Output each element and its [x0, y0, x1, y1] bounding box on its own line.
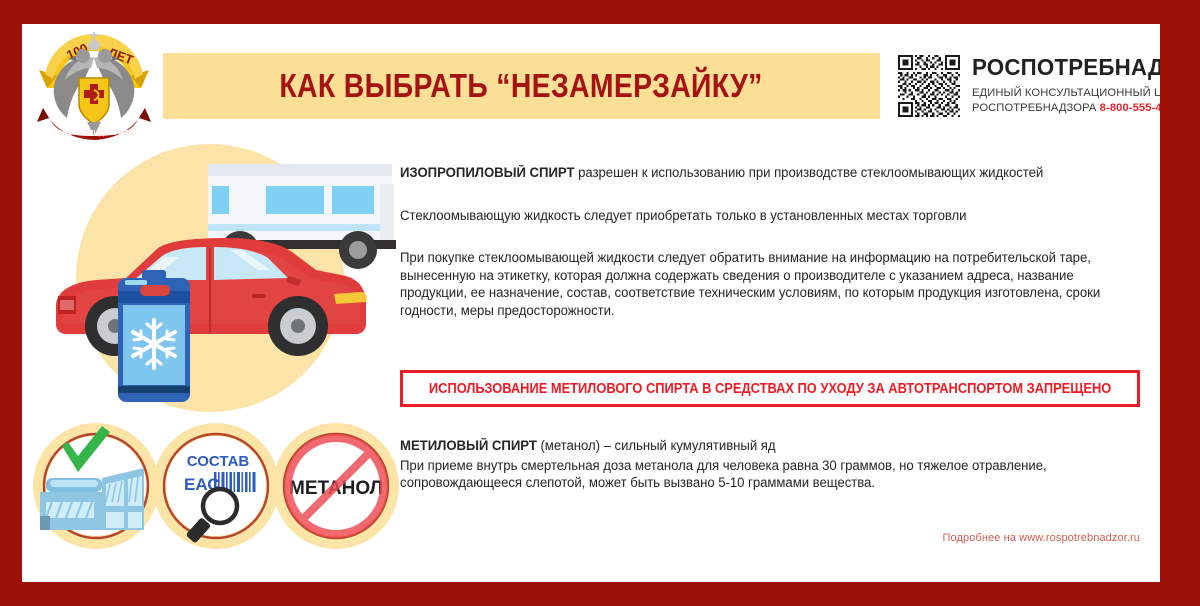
title-banner: КАК ВЫБРАТЬ “НЕЗАМЕРЗАЙКУ”: [163, 53, 880, 119]
warning-text: ИСПОЛЬЗОВАНИЕ МЕТИЛОВОГО СПИРТА В СРЕДСТ…: [429, 381, 1111, 397]
brand-subtitle-line1: ЕДИНЫЙ КОНСУЛЬТАЦИОННЫЙ ЦЕНТР: [972, 86, 1160, 101]
brand-subtitle-line2: РОСПОТРЕБНАДЗОРА 8-800-555-49-43: [972, 101, 1160, 116]
paragraph-purchase-note: Стеклоомывающую жидкость следует приобре…: [400, 207, 1129, 225]
content-column: ИЗОПРОПИЛОВЫЙ СПИРТ разрешен к использов…: [400, 164, 1140, 319]
badge-no-methanol[interactable]: МЕТАНОЛ: [272, 422, 400, 550]
hotline-phone[interactable]: 8-800-555-49-43: [1100, 102, 1160, 114]
composition-heading: СОСТАВ: [187, 453, 250, 470]
poster-canvas: 100 ЛЕТ: [22, 24, 1160, 582]
footer-website-link[interactable]: Подробнее на www.rospotrebnadzor.ru: [400, 532, 1140, 544]
brand-block: РОСПОТРЕБНАДЗОР ЕДИНЫЙ КОНСУЛЬТАЦИОННЫЙ …: [898, 55, 1160, 117]
methanol-block: МЕТИЛОВЫЙ СПИРТ (метанол) – сильный куму…: [400, 437, 1140, 492]
brand-texts: РОСПОТРЕБНАДЗОР ЕДИНЫЙ КОНСУЛЬТАЦИОННЫЙ …: [972, 55, 1160, 116]
washer-fluid-bottle-icon: [118, 270, 190, 402]
poster-root: 100 ЛЕТ: [0, 0, 1200, 606]
methanol-body: При приеме внутрь смертельная доза метан…: [400, 457, 1129, 492]
badges-row: СОСТАВ ЕАС: [32, 422, 400, 550]
methanol-lead-rest: (метанол) – сильный кумулятивный яд: [537, 438, 776, 453]
badge-check-composition[interactable]: СОСТАВ ЕАС: [152, 422, 280, 550]
methanol-title-line: МЕТИЛОВЫЙ СПИРТ (метанол) – сильный куму…: [400, 437, 1129, 455]
page-title: КАК ВЫБРАТЬ “НЕЗАМЕРЗАЙКУ”: [280, 67, 763, 105]
warning-box: ИСПОЛЬЗОВАНИЕ МЕТИЛОВОГО СПИРТА В СРЕДСТ…: [400, 370, 1140, 407]
qr-code-icon[interactable]: [898, 55, 960, 117]
isopropyl-lead: ИЗОПРОПИЛОВЫЙ СПИРТ: [400, 165, 574, 180]
paragraph-attention-note: При покупке стеклоомывающей жидкости сле…: [400, 249, 1109, 319]
badge-authorized-store[interactable]: [32, 422, 160, 550]
methanol-lead: МЕТИЛОВЫЙ СПИРТ: [400, 438, 537, 453]
brand-subtitle-line2-text: РОСПОТРЕБНАДЗОРА: [972, 102, 1096, 114]
car-van-antifreeze-illustration: [30, 128, 402, 418]
paragraph-isopropyl: ИЗОПРОПИЛОВЫЙ СПИРТ разрешен к использов…: [400, 164, 1129, 182]
brand-name: РОСПОТРЕБНАДЗОР: [972, 56, 1160, 79]
isopropyl-rest: разрешен к использованию при производств…: [574, 165, 1043, 180]
